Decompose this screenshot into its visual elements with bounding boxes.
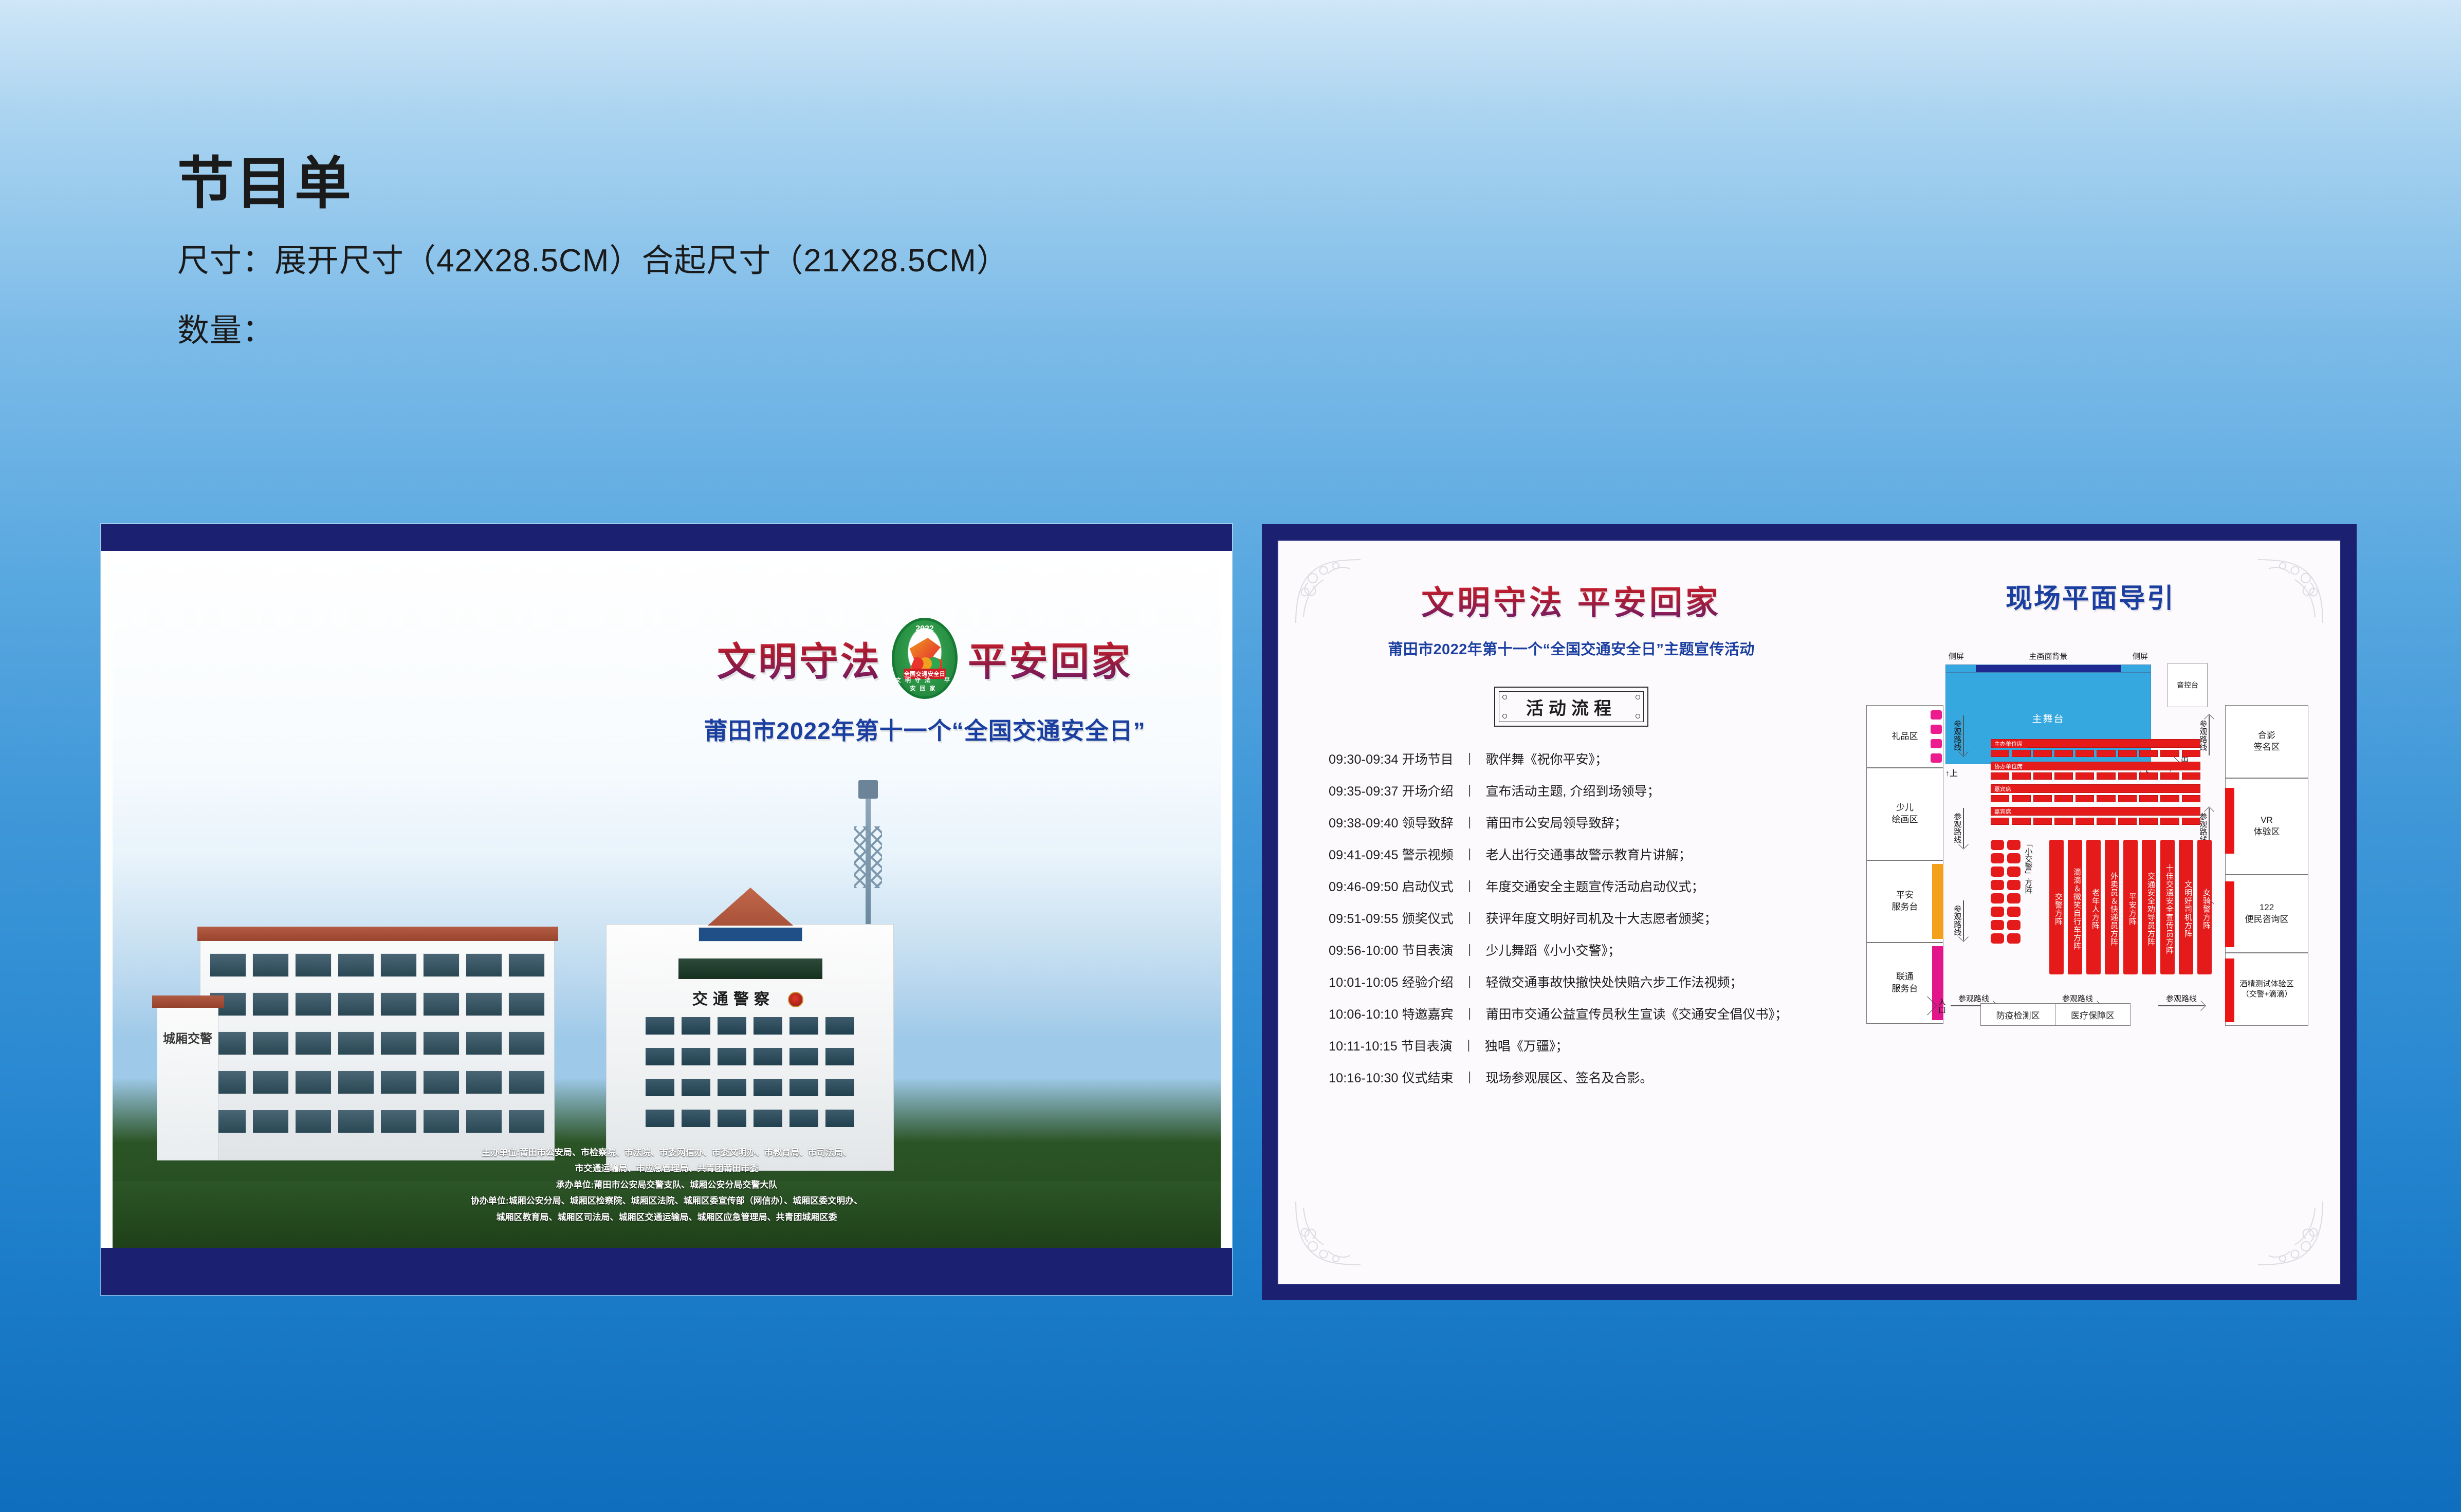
zone-label: 酒精测试体验区 （交警+滴滴） xyxy=(2239,979,2293,1000)
zone-epidemic-check: 防疫检测区 xyxy=(1980,1003,2055,1026)
schedule-row: 09:56-10:00 节目表演 丨 少儿舞蹈《小小交警》； xyxy=(1329,945,1828,957)
slogan-left-text: 文明守法 xyxy=(717,630,881,687)
left-panel-bottom-band xyxy=(101,1248,1232,1295)
national-traffic-safety-day-badge-icon: 2022 全国交通安全日 文明守法 平安回家 xyxy=(892,618,958,699)
schedule-detail: 歌伴舞《祝你平安》； xyxy=(1486,752,1608,767)
sound-desk: 音控台 xyxy=(2168,663,2208,707)
fine-print-line: 城厢区教育局、城厢区司法局、城厢区交通运输局、城厢区应急管理局、共青团城厢区委 xyxy=(169,1209,1164,1225)
schedule-row: 10:06-10:10 特邀嘉宾 丨 莆田市交通公益宣传员秋生宣读《交通安全倡仪… xyxy=(1329,1008,1828,1021)
schedule-row: 09:46-09:50 启动仪式 丨 年度交通安全主题宣传活动启动仪式； xyxy=(1329,881,1828,894)
schedule-time: 09:56-10:00 xyxy=(1329,944,1399,958)
schedule-category: 经验介绍 xyxy=(1402,975,1454,990)
activity-flow-label: 活动流程 xyxy=(1526,694,1617,720)
arrow-up-icon xyxy=(2209,715,2210,755)
left-panel-top-band xyxy=(101,524,1232,551)
schedule-row: 09:35-09:37 开场介绍 丨 宣布活动主题, 介绍到场领导； xyxy=(1329,785,1828,798)
corner-flourish-icon xyxy=(1290,1195,1367,1273)
schedule-detail: 年度交通安全主题宣传活动启动仪式； xyxy=(1486,880,1704,894)
screen-labels: 侧屏 主画面背景 侧屏 xyxy=(1945,651,2151,665)
seat-row-header: 协办单位席 xyxy=(1991,762,2200,770)
formation-column: 女骑警方阵 xyxy=(2197,840,2212,974)
route-label: 参观路线 xyxy=(1953,720,1961,751)
right-slogan: 文明守法 平安回家 xyxy=(1314,577,1828,624)
fine-print-line: 承办单位:莆田市公安局交警支队、城厢公安分局交警大队 xyxy=(169,1177,1164,1193)
route-label: 参观路线 xyxy=(1953,813,1961,843)
entrance-arrow-icon xyxy=(1918,997,1937,1016)
route-label: 参观路线 xyxy=(1953,905,1961,936)
entrance-marker: 入口 xyxy=(1921,998,1947,1013)
formation-column: 滴滴＆微笑自行车方阵 xyxy=(2068,840,2082,974)
formation-column: 平安方阵 xyxy=(2123,840,2138,974)
building-sign-text: 交通警察 xyxy=(692,991,775,1008)
fine-print-line: 市交通运输局、市应急管理局、共青团莆田市委 xyxy=(169,1160,1164,1176)
seat-row-label: 嘉宾席 xyxy=(1994,807,2016,816)
side-building xyxy=(200,939,555,1160)
badge-sublabel: 文明守法 平安回家 xyxy=(894,676,955,692)
schedule-category: 开场介绍 xyxy=(1402,784,1454,799)
route-arrow-down: 参观路线 xyxy=(1953,900,1964,941)
fine-print-line: 协办单位:城厢公安分局、城厢区检察院、城厢区法院、城厢区委宣传部（网信办）、城厢… xyxy=(169,1193,1164,1209)
panels-row: 城厢交警 交通警察 xyxy=(0,524,2461,1305)
schedule-time: 09:38-09:40 xyxy=(1329,816,1399,831)
page-title: 节目单 xyxy=(177,154,1719,214)
formation-column: 交通安全劝导员方阵 xyxy=(2142,840,2156,974)
zone-122-consultation-area: 122 便民咨询区 xyxy=(2225,875,2308,953)
right-panel-right-column: 现场平面导引 侧屏 主画面背景 侧屏 xyxy=(1859,577,2322,1276)
size-spec-line: 尺寸：展开尺寸（42X28.5CM）合起尺寸（21X28.5CM） xyxy=(177,234,1719,281)
screen-right-label: 侧屏 xyxy=(2133,651,2148,661)
route-arrow-right: 参观路线 xyxy=(2158,993,2205,1006)
schedule-row: 09:41-09:45 警示视频 丨 老人出行交通事故警示教育片讲解； xyxy=(1329,849,1828,862)
formation-column: 外卖员＆快递员方阵 xyxy=(2105,840,2119,974)
zone-gift-area: 礼品区 xyxy=(1866,705,1943,768)
zone-label: 合影 签名区 xyxy=(2254,730,2280,753)
zone-label: VR 体验区 xyxy=(2254,815,2280,838)
fine-print-line: 主办单位:莆田市公安局、市检察院、市法院、市委网信办、市委文明办、市教育局、市司… xyxy=(169,1145,1164,1160)
booth-bar-red xyxy=(2225,881,2234,947)
schedule-time: 10:11-10:15 xyxy=(1329,1039,1398,1054)
main-stage-label: 主舞台 xyxy=(2032,711,2064,725)
schedule-row: 10:11-10:15 节目表演 丨 独唱《万疆》； xyxy=(1329,1040,1828,1053)
arrow-down-icon xyxy=(1963,715,1964,755)
floorplan-title: 现场平面导引 xyxy=(1859,577,2322,615)
side-screen-left xyxy=(1946,665,1976,672)
seat-row-label: 主办单位席 xyxy=(1994,740,2028,748)
tower-sign-text: 城厢交警 xyxy=(157,1031,218,1047)
right-panel-left-column: 文明守法 平安回家 莆田市2022年第十一个“全国交通安全日”主题宣传活动 活动… xyxy=(1314,577,1828,1104)
building-roof xyxy=(684,888,817,926)
schedule-list: 09:30-09:34 开场节目 丨 歌伴舞《祝你平安》； 09:35-09:3… xyxy=(1314,753,1828,1085)
schedule-category: 节目表演 xyxy=(1401,1039,1453,1054)
kids-formation-label: 「小交警」方阵 xyxy=(2024,840,2032,894)
gift-booth-markers xyxy=(1931,710,1942,763)
route-label: 参观路线 xyxy=(1958,993,1989,1004)
right-panel-inner: 文明守法 平安回家 莆田市2022年第十一个“全国交通安全日”主题宣传活动 活动… xyxy=(1277,540,2341,1285)
formation-column: 十佳交通安全宣传员方阵 xyxy=(2160,840,2175,974)
kids-formation-seats xyxy=(1991,840,2021,944)
traffic-police-tower: 城厢交警 xyxy=(157,1006,218,1160)
schedule-detail: 宣布活动主题, 介绍到场领导； xyxy=(1486,784,1660,799)
traffic-police-building: 交通警察 xyxy=(606,924,894,1171)
schedule-row: 09:38-09:40 领导致辞 丨 莆田市公安局领导致辞； xyxy=(1329,817,1828,830)
booth-bar-orange xyxy=(1932,864,1943,939)
left-panel-artboard: 城厢交警 交通警察 xyxy=(101,524,1232,1295)
zone-label: 少儿 绘画区 xyxy=(1892,802,1918,826)
police-emblem-icon xyxy=(788,992,803,1007)
zone-label: 122 便民咨询区 xyxy=(2245,902,2289,926)
route-arrow-down: 参观路线 xyxy=(1953,715,1964,755)
zone-label: 防疫检测区 xyxy=(1996,1008,2040,1021)
zone-kids-drawing-area: 少儿 绘画区 xyxy=(1866,768,1943,860)
formation-column: 文明好司机方阵 xyxy=(2179,840,2193,974)
booth-bar-red xyxy=(2225,788,2234,854)
seat-row-label: 嘉宾席 xyxy=(1994,785,2016,793)
seat-row-header: 嘉宾席 xyxy=(1991,807,2200,816)
schedule-row: 10:01-10:05 经验介绍 丨 轻微交通事故快撤快处快赔六步工作法视频； xyxy=(1329,976,1828,989)
route-label: 参观路线 xyxy=(2166,993,2197,1004)
zone-label: 平安 服务台 xyxy=(1892,890,1918,913)
building-clerestory-windows xyxy=(698,927,803,942)
seat-row-label: 协办单位席 xyxy=(1994,762,2028,770)
zone-pingan-service-desk: 平安 服务台 xyxy=(1866,860,1943,943)
screen-main-label: 主画面背景 xyxy=(2029,651,2067,661)
schedule-category: 领导致辞 xyxy=(1402,816,1454,831)
schedule-time: 10:16-10:30 xyxy=(1329,1071,1399,1085)
floorplan-diagram: 侧屏 主画面背景 侧屏 主舞台 ↑上 xyxy=(1859,638,2322,1265)
arrow-down-icon xyxy=(1963,808,1964,848)
stage-backdrop-strip xyxy=(1945,665,2151,673)
seat-row-header: 嘉宾席 xyxy=(1991,784,2200,793)
badge-year: 2022 xyxy=(894,624,955,634)
screen-left-label: 侧屏 xyxy=(1949,651,1964,661)
schedule-category: 警示视频 xyxy=(1402,848,1454,862)
schedule-time: 09:51-09:55 xyxy=(1329,912,1399,926)
sound-desk-label: 音控台 xyxy=(2177,680,2198,690)
zone-vr-experience-area: VR 体验区 xyxy=(2225,778,2308,875)
zone-label: 联通 服务台 xyxy=(1892,971,1918,995)
schedule-category: 颁奖仪式 xyxy=(1402,912,1454,926)
schedule-row: 10:16-10:30 仪式结束 丨 现场参观展区、签名及合影。 xyxy=(1329,1072,1828,1085)
entrance-label: 入口 xyxy=(1936,998,1947,1013)
tower-roof xyxy=(152,995,224,1008)
formation-column: 老年人方阵 xyxy=(2086,840,2101,974)
schedule-detail: 莆田市公安局领导致辞； xyxy=(1486,816,1627,831)
zone-alcohol-test-area: 酒精测试体验区 （交警+滴滴） xyxy=(2225,953,2308,1026)
right-panel-artboard: 文明守法 平安回家 莆田市2022年第十一个“全国交通安全日”主题宣传活动 活动… xyxy=(1262,524,2357,1300)
schedule-time: 09:41-09:45 xyxy=(1329,848,1399,862)
route-arrow-down: 参观路线 xyxy=(1953,808,1964,848)
schedule-detail: 独唱《万疆》； xyxy=(1485,1039,1569,1054)
seat-row-header: 主办单位席 xyxy=(1991,739,2200,748)
left-panel-body: 城厢交警 交通警察 xyxy=(113,551,1221,1248)
seat-row xyxy=(1991,750,2200,757)
zone-label: 医疗保障区 xyxy=(2071,1008,2115,1021)
zone-label: 礼品区 xyxy=(1892,731,1918,743)
schedule-time: 09:35-09:37 xyxy=(1329,784,1399,799)
side-screen-right xyxy=(2121,665,2151,672)
formation-columns: 交警方阵 滴滴＆微笑自行车方阵 老年人方阵 外卖员＆快递员方阵 平安方阵 交通安… xyxy=(2049,840,2212,974)
schedule-category: 节目表演 xyxy=(1402,944,1454,958)
booth-bar-red xyxy=(2225,958,2234,1022)
schedule-category: 启动仪式 xyxy=(1402,880,1454,894)
formation-column: 交警方阵 xyxy=(2049,840,2064,974)
header-block: 节目单 尺寸：展开尺寸（42X28.5CM）合起尺寸（21X28.5CM） 数量… xyxy=(177,154,1719,351)
schedule-category: 开场节目 xyxy=(1402,752,1454,767)
route-label: 参观路线 xyxy=(2062,993,2093,1004)
activity-flow-title-box: 活动流程 xyxy=(1494,687,1648,727)
side-building-roof xyxy=(197,927,558,941)
building-sign: 交通警察 xyxy=(607,986,893,1009)
schedule-time: 10:06-10:10 xyxy=(1329,1007,1399,1022)
schedule-detail: 少儿舞蹈《小小交警》； xyxy=(1486,944,1621,958)
arrow-down-icon xyxy=(1963,900,1964,941)
schedule-detail: 老人出行交通事故警示教育片讲解； xyxy=(1486,848,1692,862)
quantity-line: 数量： xyxy=(177,304,1719,351)
arrow-right-icon xyxy=(2158,1005,2205,1006)
schedule-detail: 轻微交通事故快撤快处快赔六步工作法视频； xyxy=(1486,975,1743,990)
seat-row xyxy=(1991,772,2200,780)
schedule-category: 特邀嘉宾 xyxy=(1402,1007,1454,1022)
schedule-time: 10:01-10:05 xyxy=(1329,975,1399,990)
venue-photo: 城厢交警 交通警察 xyxy=(113,551,1221,1248)
organizer-fine-print: 主办单位:莆田市公安局、市检察院、市法院、市委网信办、市委文明办、市教育局、市司… xyxy=(169,1145,1164,1225)
left-subtitle: 莆田市2022年第十一个“全国交通安全日” xyxy=(673,712,1177,746)
schedule-row: 09:30-09:34 开场节目 丨 歌伴舞《祝你平安》； xyxy=(1329,753,1828,766)
seat-row xyxy=(1991,795,2200,802)
schedule-row: 09:51-09:55 颁奖仪式 丨 获评年度文明好司机及十大志愿者颁奖； xyxy=(1329,913,1828,926)
seating-block: 主办单位席 协办单位席 嘉宾席 嘉宾席 xyxy=(1991,739,2200,829)
stage-up-label: ↑上 xyxy=(1945,766,1958,779)
schedule-detail: 获评年度文明好司机及十大志愿者颁奖； xyxy=(1486,912,1717,926)
seat-row xyxy=(1991,818,2200,825)
left-slogan-block: 文明守法 2022 全国交通安全日 文明守法 平安回家 平安回家 莆田市2022… xyxy=(673,618,1177,746)
schedule-detail: 现场参观展区、签名及合影。 xyxy=(1486,1071,1653,1085)
slogan-right-text: 平安回家 xyxy=(968,630,1132,687)
zone-medical-support: 医疗保障区 xyxy=(2055,1003,2131,1026)
building-glass-band xyxy=(678,958,822,979)
schedule-detail: 莆田市交通公益宣传员秋生宣读《交通安全倡仪书》； xyxy=(1486,1007,1788,1022)
zone-photo-signature-area: 合影 签名区 xyxy=(2225,705,2308,778)
bottom-service-boxes: 防疫检测区 医疗保障区 xyxy=(1980,1003,2131,1026)
schedule-time: 09:30-09:34 xyxy=(1329,752,1399,767)
right-subtitle: 莆田市2022年第十一个“全国交通安全日”主题宣传活动 xyxy=(1314,637,1828,659)
main-backdrop xyxy=(1976,665,2121,672)
schedule-time: 09:46-09:50 xyxy=(1329,880,1399,894)
schedule-category: 仪式结束 xyxy=(1402,1071,1454,1085)
